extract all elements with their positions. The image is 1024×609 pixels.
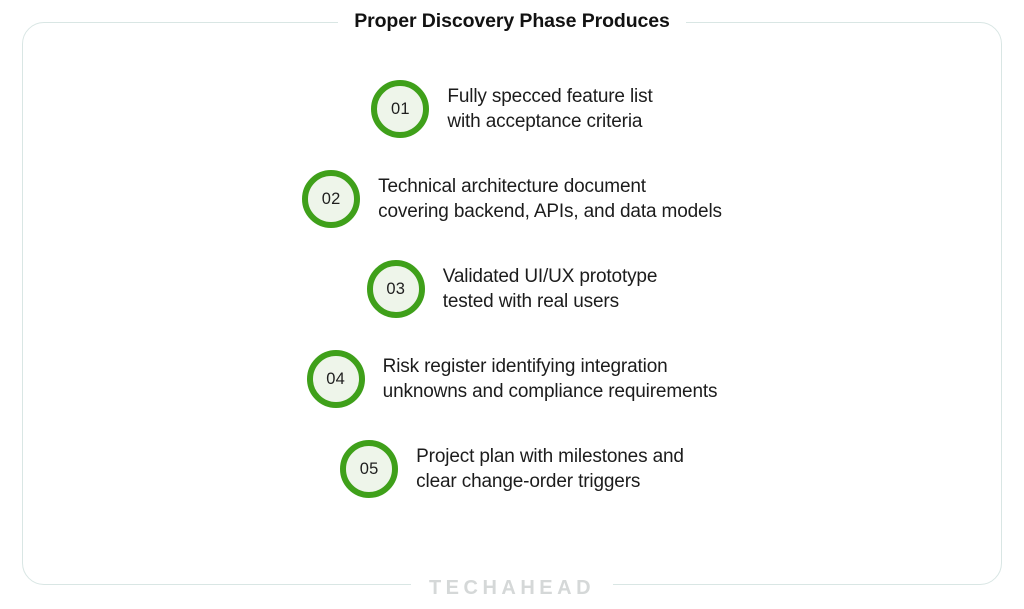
point-text-03: Validated UI/UX prototype tested with re…	[443, 264, 658, 314]
point-badge-03: 03	[367, 260, 425, 318]
list-item: 02 Technical architecture document cover…	[22, 170, 1002, 228]
point-badge-02: 02	[302, 170, 360, 228]
point-badge-01: 01	[371, 80, 429, 138]
list-item: 01 Fully specced feature list with accep…	[22, 80, 1002, 138]
point-text-04: Risk register identifying integration un…	[383, 354, 718, 404]
point-text-01: Fully specced feature list with acceptan…	[447, 84, 652, 134]
point-text-02: Technical architecture document covering…	[378, 174, 722, 224]
point-text-05: Project plan with milestones and clear c…	[416, 444, 684, 494]
list-item: 04 Risk register identifying integration…	[22, 350, 1002, 408]
point-badge-04: 04	[307, 350, 365, 408]
point-badge-05: 05	[340, 440, 398, 498]
list-item: 05 Project plan with milestones and clea…	[22, 440, 1002, 498]
list-item: 03 Validated UI/UX prototype tested with…	[22, 260, 1002, 318]
points-list: 01 Fully specced feature list with accep…	[22, 22, 1002, 585]
